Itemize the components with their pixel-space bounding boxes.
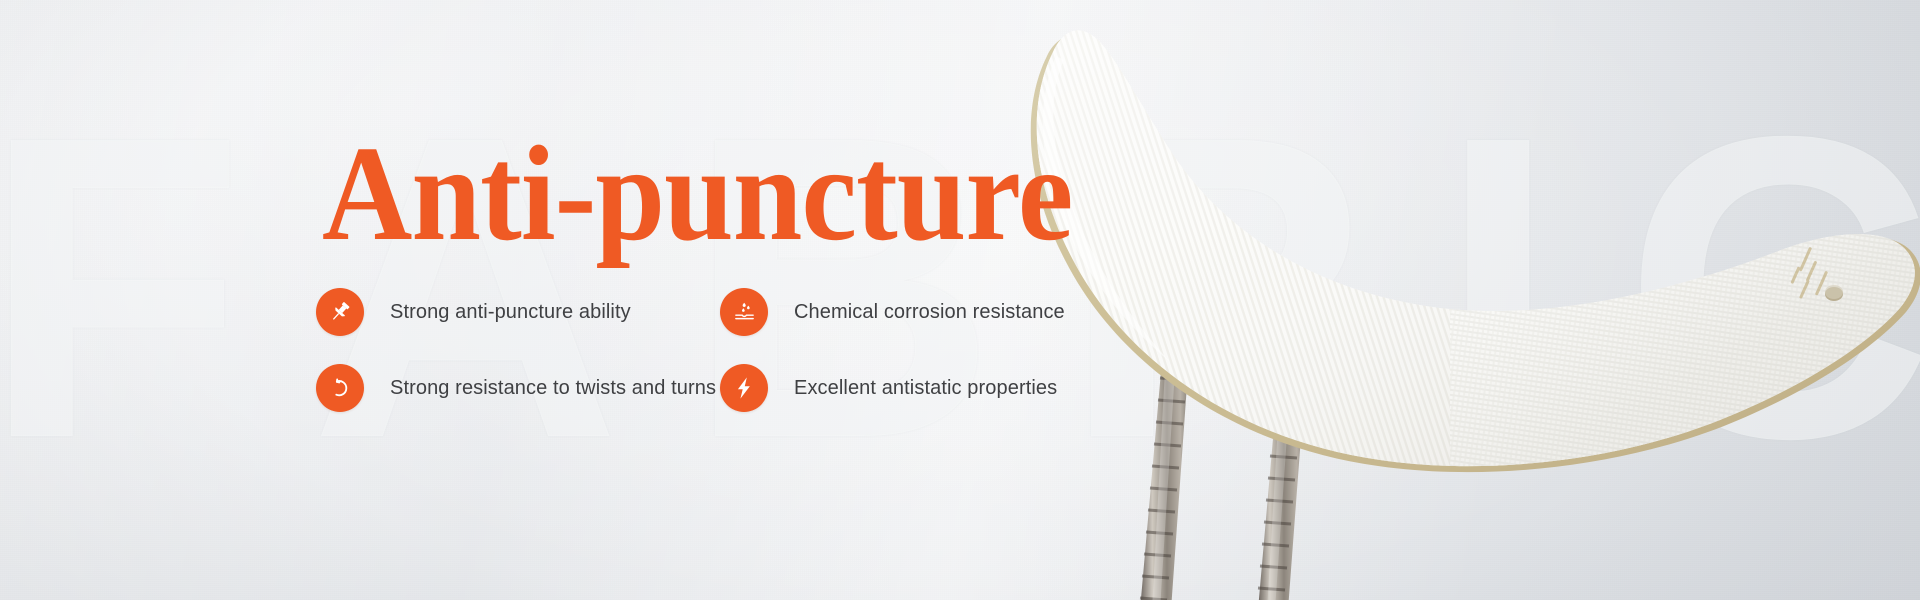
twist-rotate-icon <box>316 364 364 412</box>
chemical-drops-icon <box>720 288 768 336</box>
feature-label: Chemical corrosion resistance <box>794 301 1065 324</box>
feature-item-chemical-resistance[interactable]: Chemical corrosion resistance <box>720 288 1076 336</box>
feature-label: Strong resistance to twists and turns <box>390 377 716 400</box>
lightning-bolt-icon <box>720 364 768 412</box>
feature-item-anti-puncture[interactable]: Strong anti-puncture ability <box>316 288 720 336</box>
feature-item-antistatic[interactable]: Excellent antistatic properties <box>720 364 1076 412</box>
page-title: Anti-puncture <box>322 126 1072 262</box>
feature-row-2: Strong resistance to twists and turns Ex… <box>316 364 1076 412</box>
product-banner: F A B R I C <box>0 0 1920 600</box>
feature-row-1: Strong anti-puncture ability <box>316 288 1076 336</box>
feature-label: Strong anti-puncture ability <box>390 301 631 324</box>
feature-label: Excellent antistatic properties <box>794 377 1057 400</box>
push-pin-icon <box>316 288 364 336</box>
feature-item-twist-resistance[interactable]: Strong resistance to twists and turns <box>316 364 720 412</box>
feature-list: Strong anti-puncture ability <box>316 288 1076 440</box>
